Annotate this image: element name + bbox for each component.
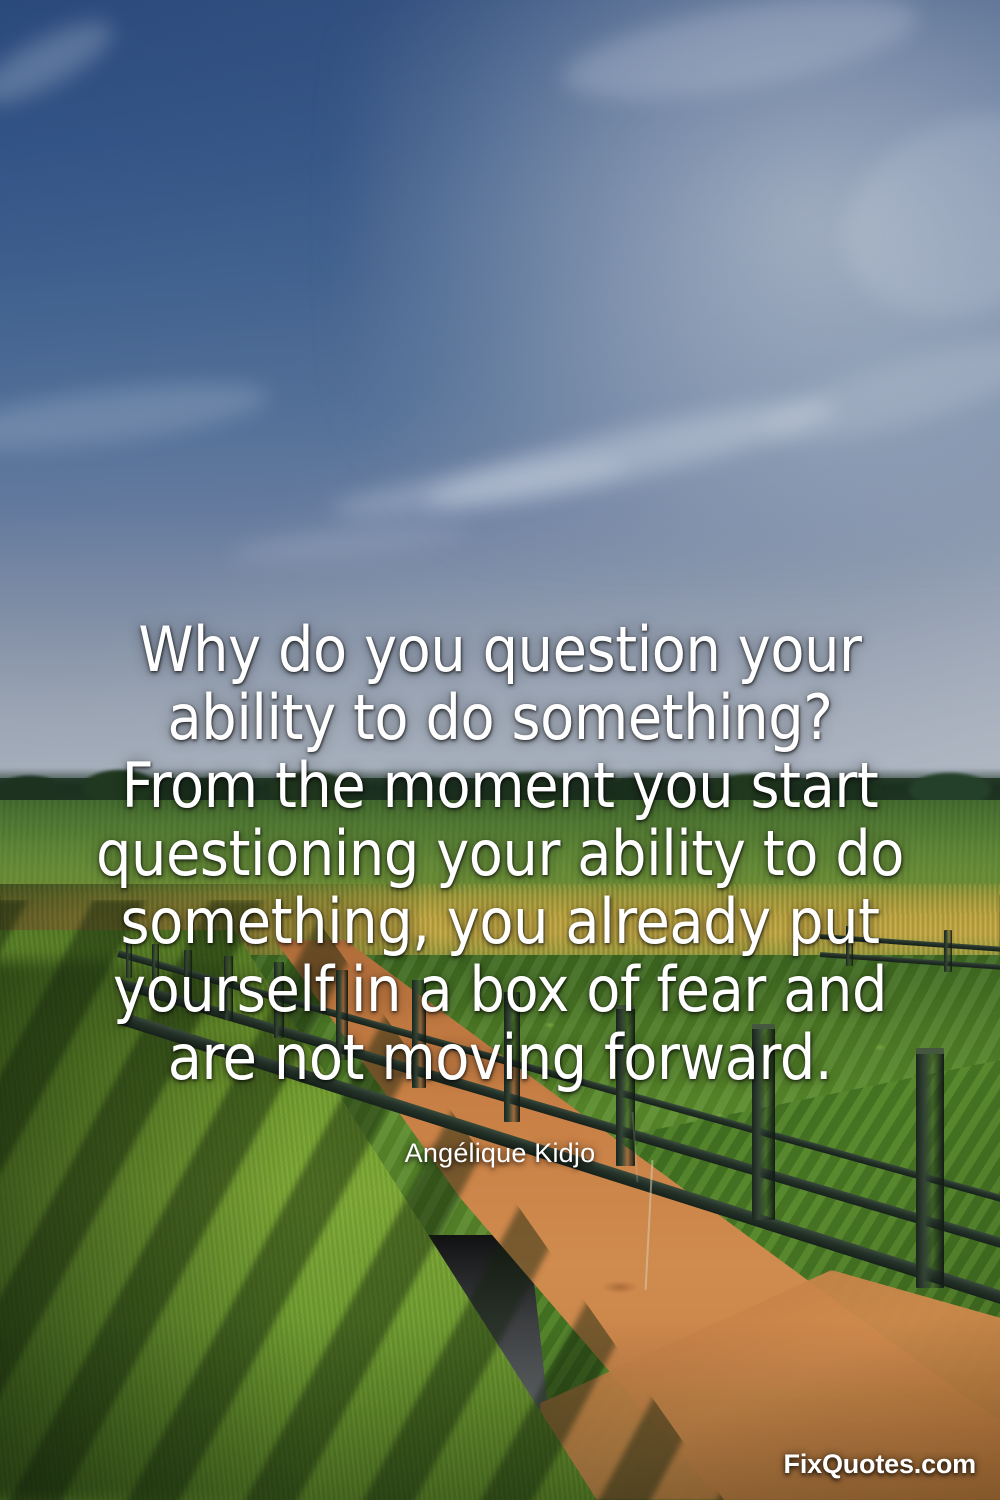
- quote-text: Why do you question your ability to do s…: [60, 616, 940, 1092]
- quote-line: are not moving forward.: [60, 1024, 940, 1092]
- site-watermark: FixQuotes.com: [784, 1449, 976, 1480]
- fence-post: [944, 930, 952, 972]
- quote-line: something, you already put: [60, 888, 940, 956]
- quote-line: From the moment you start: [60, 752, 940, 820]
- quote-author: Angélique Kidjo: [60, 1138, 940, 1169]
- quote-line: Why do you question your: [60, 616, 940, 684]
- quote-line: questioning your ability to do: [60, 820, 940, 888]
- quote-line: yourself in a box of fear and: [60, 956, 940, 1024]
- quote-card: Why do you question your ability to do s…: [0, 0, 1000, 1500]
- quote-line: ability to do something?: [60, 684, 940, 752]
